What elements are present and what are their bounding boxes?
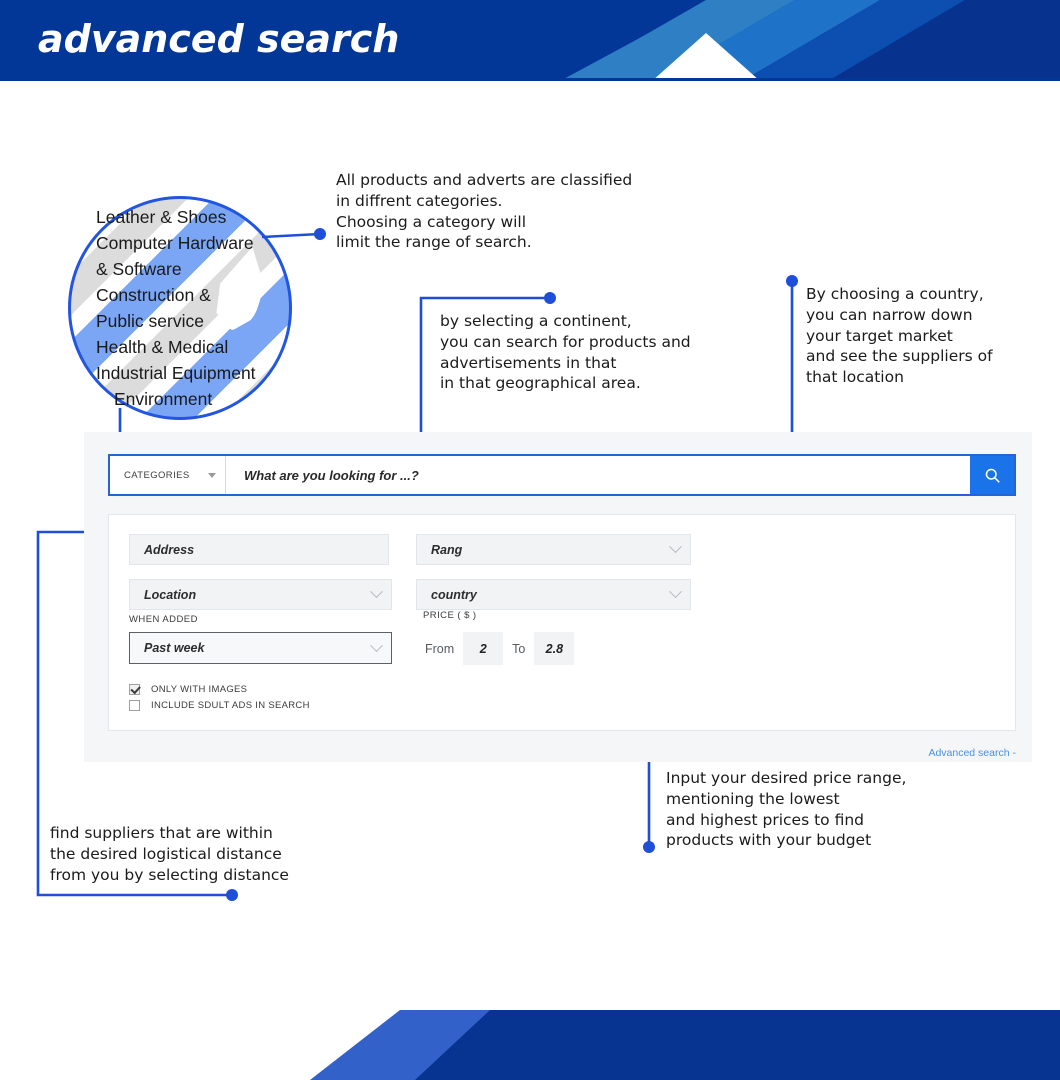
price-to-word: To [503, 642, 534, 656]
search-icon [984, 467, 1001, 484]
page-title: advanced search [38, 17, 399, 61]
connector-dot-distance-note [226, 889, 238, 901]
chevron-down-icon [370, 585, 383, 598]
address-input[interactable]: Address [129, 534, 389, 565]
connector-dot-price-note [643, 841, 655, 853]
filter-fields: Address Rang Location country WHEN ADDED… [108, 514, 1016, 731]
chevron-down-icon [208, 473, 216, 478]
category-item[interactable]: Industrial Equipment [96, 360, 308, 386]
footer-shapes [0, 990, 1060, 1080]
connector-dot-categories [314, 228, 326, 240]
page-root: advanced search Leather & Shoes Computer… [0, 0, 1060, 1080]
when-added-value: Past week [144, 641, 204, 655]
rang-select-label: Rang [431, 543, 462, 557]
country-select[interactable]: country [416, 579, 691, 610]
include-adult-ads-row[interactable]: INCLUDE SDULT ADS IN SEARCH [129, 700, 310, 711]
category-item[interactable]: Computer Hardware [96, 230, 308, 256]
annotation-categories: All products and adverts are classified … [336, 170, 716, 253]
advanced-search-panel: CATEGORIES What are you looking for ...?… [84, 432, 1032, 762]
include-adult-ads-label: INCLUDE SDULT ADS IN SEARCH [151, 700, 310, 711]
category-item[interactable]: Public service [96, 308, 308, 334]
annotation-price: Input your desired price range, mentioni… [666, 768, 986, 851]
include-adult-ads-checkbox[interactable] [129, 700, 140, 711]
categories-dropdown-label: CATEGORIES [124, 470, 190, 481]
price-from-input[interactable]: 2 [463, 632, 503, 665]
location-select[interactable]: Location [129, 579, 392, 610]
category-item[interactable]: Construction & [96, 282, 308, 308]
category-list: Leather & Shoes Computer Hardware & Soft… [96, 204, 308, 412]
search-input-placeholder: What are you looking for ...? [244, 468, 419, 483]
price-label: PRICE ( $ ) [423, 610, 477, 621]
category-item[interactable]: & Software [96, 256, 308, 282]
only-with-images-row[interactable]: ONLY WITH IMAGES [129, 684, 247, 695]
annotation-distance: find suppliers that are within the desir… [50, 823, 380, 885]
price-to-input[interactable]: 2.8 [534, 632, 574, 665]
category-item[interactable]: Leather & Shoes [96, 204, 308, 230]
category-item[interactable]: Health & Medical [96, 334, 308, 360]
footer-decoration [0, 990, 1060, 1080]
chevron-down-icon [669, 540, 682, 553]
annotation-country: By choosing a country, you can narrow do… [806, 284, 1056, 388]
chevron-down-icon [370, 639, 383, 652]
search-input-wrap[interactable]: What are you looking for ...? [226, 456, 970, 494]
category-item[interactable]: Environment [96, 386, 308, 412]
location-select-label: Location [144, 588, 196, 602]
price-range-row: From 2 To 2.8 [416, 632, 574, 665]
connector-dot-continent [544, 292, 556, 304]
categories-dropdown[interactable]: CATEGORIES [110, 456, 226, 494]
category-bubble[interactable]: Leather & Shoes Computer Hardware & Soft… [68, 196, 292, 420]
address-input-placeholder: Address [144, 543, 194, 557]
page-header: advanced search [0, 0, 1060, 81]
connector-dot-country-note [786, 275, 798, 287]
chevron-down-icon [669, 585, 682, 598]
when-added-label: WHEN ADDED [129, 614, 198, 625]
only-with-images-label: ONLY WITH IMAGES [151, 684, 247, 695]
search-bar: CATEGORIES What are you looking for ...? [108, 454, 1016, 496]
annotation-continent: by selecting a continent, you can search… [440, 311, 770, 394]
only-with-images-checkbox[interactable] [129, 684, 140, 695]
price-from-word: From [416, 642, 463, 656]
country-select-label: country [431, 588, 477, 602]
advanced-search-link[interactable]: Advanced search - [928, 747, 1016, 759]
search-button[interactable] [970, 456, 1014, 494]
when-added-select[interactable]: Past week [129, 632, 392, 664]
rang-select[interactable]: Rang [416, 534, 691, 565]
